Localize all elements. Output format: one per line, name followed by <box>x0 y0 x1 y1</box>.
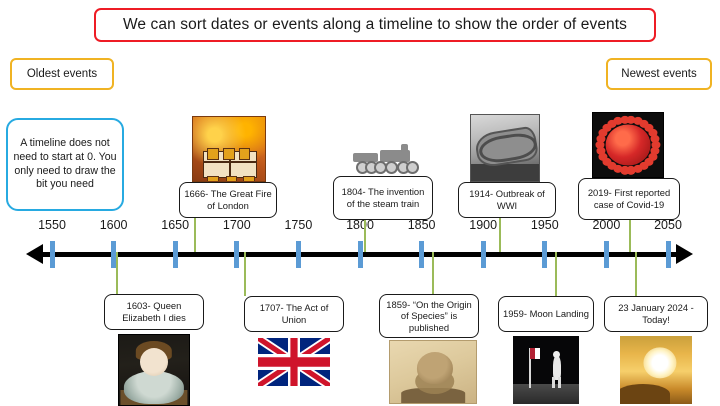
sunrise-photo <box>620 336 692 404</box>
axis-tick-1650 <box>173 241 178 268</box>
event-box-act-of-union: 1707- The Act of Union <box>244 296 344 332</box>
connector-stem-moon-landing <box>555 252 557 296</box>
event-label-elizabeth: 1603- Queen Elizabeth I dies <box>108 300 200 323</box>
event-label-great-fire: 1666- The Great Fire of London <box>183 188 273 211</box>
connector-stem-steam-train <box>364 220 366 252</box>
locomotive-chimney <box>401 144 408 153</box>
battlefield-ground <box>471 164 539 181</box>
newest-events-text: Newest events <box>621 68 696 80</box>
axis-tick-1850 <box>419 241 424 268</box>
event-box-moon-landing: 1959- Moon Landing <box>498 296 594 332</box>
event-label-origin-species: 1859- “On the Origin of Species” is publ… <box>383 299 475 334</box>
charles-darwin-portrait <box>389 340 477 404</box>
event-box-wwi: 1914- Outbreak of WWI <box>458 182 556 218</box>
axis-tick-2000 <box>604 241 609 268</box>
event-label-steam-train: 1804- The invention of the steam train <box>337 186 429 209</box>
axis-arrow-right-icon <box>676 244 693 264</box>
axis-tick-label-1950: 1950 <box>531 218 559 232</box>
connector-stem-act-of-union <box>244 252 246 296</box>
title-text: We can sort dates or events along a time… <box>123 16 627 34</box>
house-window-2 <box>239 148 250 160</box>
title-banner: We can sort dates or events along a time… <box>94 8 656 42</box>
event-box-great-fire: 1666- The Great Fire of London <box>179 182 277 218</box>
virus-body <box>606 125 651 166</box>
queen-face <box>140 348 168 376</box>
oldest-events-text: Oldest events <box>27 68 97 80</box>
axis-tick-label-1600: 1600 <box>100 218 128 232</box>
union-jack-svg <box>258 338 330 386</box>
axis-tick-1550 <box>50 241 55 268</box>
axis-tick-1750 <box>296 241 301 268</box>
axis-tick-label-1750: 1750 <box>284 218 312 232</box>
event-label-wwi: 1914- Outbreak of WWI <box>462 188 552 211</box>
event-box-origin-species: 1859- “On the Origin of Species” is publ… <box>379 294 479 338</box>
connector-stem-great-fire <box>194 218 196 252</box>
queen-elizabeth-i-portrait <box>118 334 190 406</box>
great-fire-of-london-painting <box>192 116 266 182</box>
train-wheel-3 <box>385 161 398 174</box>
foreground-hill <box>620 384 670 404</box>
moon-landing-photo <box>513 336 579 404</box>
us-flag-on-moon <box>530 348 541 359</box>
queen-ruff-collar <box>124 371 184 403</box>
connector-stem-elizabeth <box>116 252 118 294</box>
oldest-events-label: Oldest events <box>10 58 114 90</box>
axis-tick-1800 <box>358 241 363 268</box>
event-box-today: 23 January 2024 - Today! <box>604 296 708 332</box>
axis-arrow-left-icon <box>26 244 43 264</box>
axis-tick-1950 <box>542 241 547 268</box>
axis-tick-label-1800: 1800 <box>346 218 374 232</box>
lunar-surface <box>513 384 579 404</box>
axis-tick-1700 <box>234 241 239 268</box>
connector-stem-wwi <box>499 218 501 252</box>
newest-events-label: Newest events <box>606 58 712 90</box>
axis-tick-label-1900: 1900 <box>469 218 497 232</box>
timeline-note-text: A timeline does not need to start at 0. … <box>12 137 118 193</box>
event-label-covid: 2019- First reported case of Covid-19 <box>582 187 676 210</box>
connector-stem-origin-species <box>432 252 434 294</box>
axis-tick-label-2050: 2050 <box>654 218 682 232</box>
timeline-axis: 1550160016501700175018001850190019502000… <box>0 218 720 278</box>
coronavirus-particle-image <box>592 112 664 178</box>
axis-tick-1900 <box>481 241 486 268</box>
sun-disc <box>644 348 677 379</box>
wwi-tank-photo <box>470 114 540 182</box>
axis-tick-label-1850: 1850 <box>408 218 436 232</box>
astronaut-leg-left <box>552 377 555 388</box>
train-wheel-5 <box>406 161 419 174</box>
event-box-steam-train: 1804- The invention of the steam train <box>333 176 433 220</box>
timeline-note-callout: A timeline does not need to start at 0. … <box>6 118 124 211</box>
steam-locomotive-illustration <box>345 140 421 176</box>
axis-tick-label-1550: 1550 <box>38 218 66 232</box>
event-label-today: 23 January 2024 - Today! <box>608 302 704 325</box>
connector-stem-covid <box>629 220 631 252</box>
event-box-elizabeth: 1603- Queen Elizabeth I dies <box>104 294 204 330</box>
axis-tick-2050 <box>666 241 671 268</box>
axis-tick-label-2000: 2000 <box>592 218 620 232</box>
astronaut-leg-right <box>558 377 561 388</box>
axis-tick-label-1700: 1700 <box>223 218 251 232</box>
union-jack-flag <box>258 338 330 386</box>
darwin-head <box>417 352 453 384</box>
event-label-act-of-union: 1707- The Act of Union <box>248 302 340 325</box>
connector-stem-today <box>635 252 637 296</box>
axis-tick-label-1650: 1650 <box>161 218 189 232</box>
event-label-moon-landing: 1959- Moon Landing <box>503 308 589 320</box>
house-window-0 <box>207 148 218 160</box>
timeline-infographic: We can sort dates or events along a time… <box>0 0 720 404</box>
house-window-1 <box>223 148 234 160</box>
event-box-covid: 2019- First reported case of Covid-19 <box>578 178 680 220</box>
